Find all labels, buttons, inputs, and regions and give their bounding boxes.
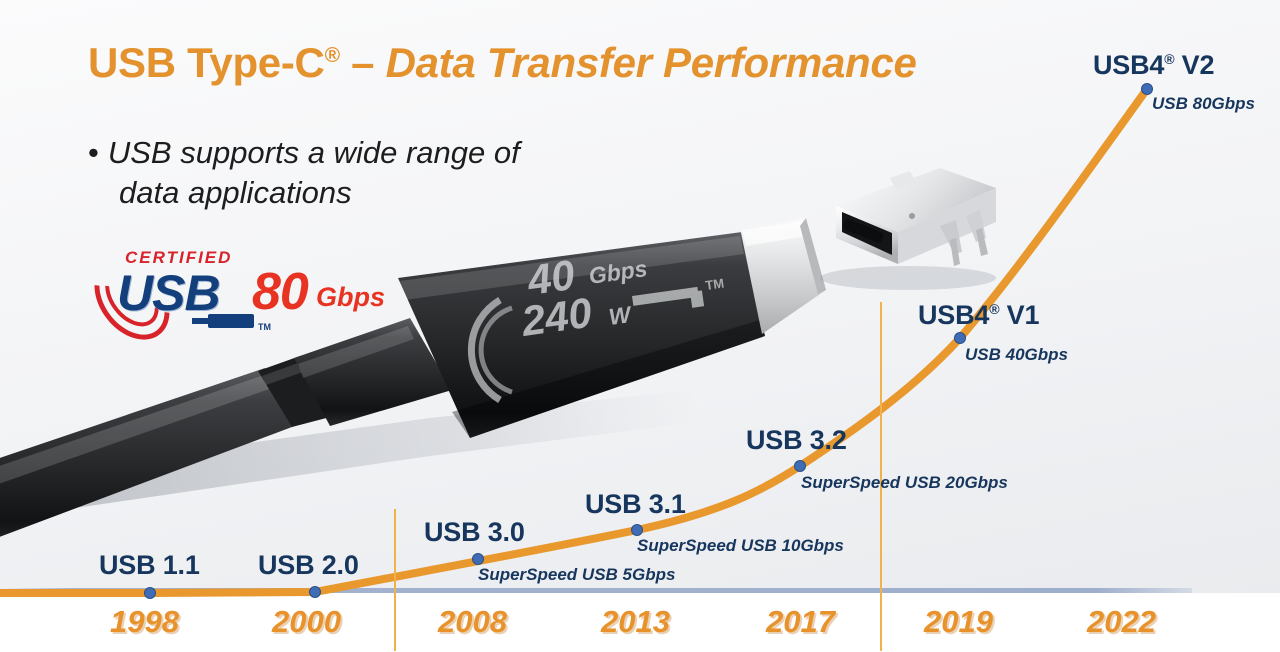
- datapoint-sub-usb-3-2: SuperSpeed USB 20Gbps: [801, 473, 1008, 493]
- slide-canvas: 40 Gbps 240 W TM: [0, 0, 1280, 652]
- datapoint-name-suffix: V1: [999, 300, 1039, 330]
- datapoint-label-usb4-v1: USB4® V1: [918, 300, 1039, 331]
- datapoint-label-usb-1-1: USB 1.1: [99, 550, 200, 581]
- title-italic: Data Transfer Performance: [386, 39, 917, 86]
- registered-mark-icon: ®: [989, 301, 999, 317]
- datapoint-name: USB 3.0: [424, 517, 525, 548]
- logo-speed-number: 80: [252, 262, 308, 322]
- datapoint-sub-usb4-v2: USB 80Gbps: [1152, 94, 1255, 114]
- bullet-marker-icon: •: [88, 133, 99, 173]
- logo-speed-units: Gbps: [316, 282, 385, 313]
- bullet-line-1: USB supports a wide range of: [108, 135, 520, 170]
- axis-year-2013: 2013: [601, 604, 670, 640]
- datapoint-sub-usb4-v1: USB 40Gbps: [965, 345, 1068, 365]
- datapoint-label-usb4-v2: USB4® V2: [1093, 50, 1214, 81]
- axis-year-2022: 2022: [1087, 604, 1156, 640]
- datapoint-name: USB 2.0: [258, 550, 359, 581]
- axis-year-2008: 2008: [438, 604, 507, 640]
- axis-year-2017: 2017: [766, 604, 835, 640]
- bullet-list: •USB supports a wide range of data appli…: [88, 133, 648, 212]
- datapoint-name: USB 1.1: [99, 550, 200, 581]
- logo-tm-mark: TM: [258, 322, 271, 332]
- logo-usb-text: USB: [117, 264, 220, 322]
- datapoint-name: USB 3.1: [585, 489, 686, 520]
- registered-mark-icon: ®: [1164, 51, 1174, 67]
- title-lead: USB Type-C: [88, 39, 325, 86]
- axis-year-1998: 1998: [110, 604, 179, 640]
- datapoint-name-text: USB4: [918, 300, 989, 330]
- datapoint-sub-usb-3-0: SuperSpeed USB 5Gbps: [478, 565, 675, 585]
- datapoint-label-usb-3-0: USB 3.0: [424, 517, 525, 548]
- datapoint-label-usb-3-1: USB 3.1: [585, 489, 686, 520]
- datapoint-label-usb-3-2: USB 3.2: [746, 425, 847, 456]
- certified-usb-80gbps-logo: CERTIFIED USB 80 Gbps TM: [100, 248, 375, 340]
- axis-year-2000: 2000: [272, 604, 341, 640]
- axis-year-2019: 2019: [924, 604, 993, 640]
- logo-usb-plug-icon: [208, 314, 254, 328]
- registered-mark-icon: ®: [325, 44, 340, 67]
- datapoint-sub-usb-3-1: SuperSpeed USB 10Gbps: [637, 536, 844, 556]
- datapoint-name-suffix: V2: [1174, 50, 1214, 80]
- datapoint-name-text: USB4: [1093, 50, 1164, 80]
- title-dash: –: [340, 39, 386, 86]
- datapoint-name: USB4® V2: [1093, 50, 1214, 81]
- datapoint-label-usb-2-0: USB 2.0: [258, 550, 359, 581]
- datapoint-name: USB 3.2: [746, 425, 847, 456]
- bullet-line-2: data applications: [119, 173, 648, 213]
- era-divider-1: [394, 509, 396, 651]
- datapoint-name: USB4® V1: [918, 300, 1039, 331]
- page-title: USB Type-C® – Data Transfer Performance: [88, 41, 917, 85]
